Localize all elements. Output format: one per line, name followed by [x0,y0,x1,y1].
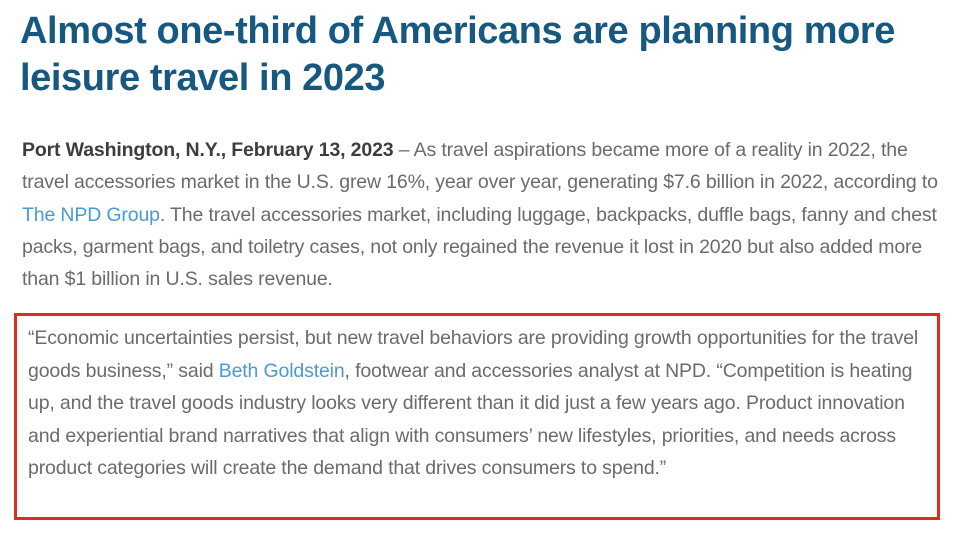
quote-text: “Economic uncertainties persist, but new… [28,322,934,485]
lead-paragraph: Port Washington, N.Y., February 13, 2023… [22,134,938,295]
press-release-page: Almost one-third of Americans are planni… [0,0,953,537]
lead-text-after-link: . The travel accessories market, includi… [22,204,937,291]
page-title: Almost one-third of Americans are planni… [20,8,930,102]
quote-callout-box: “Economic uncertainties persist, but new… [14,313,940,520]
dateline: Port Washington, N.Y., February 13, 2023 [22,139,393,161]
npd-group-link[interactable]: The NPD Group [22,204,160,226]
dateline-dash: – [393,139,413,161]
beth-goldstein-link[interactable]: Beth Goldstein [219,360,345,382]
